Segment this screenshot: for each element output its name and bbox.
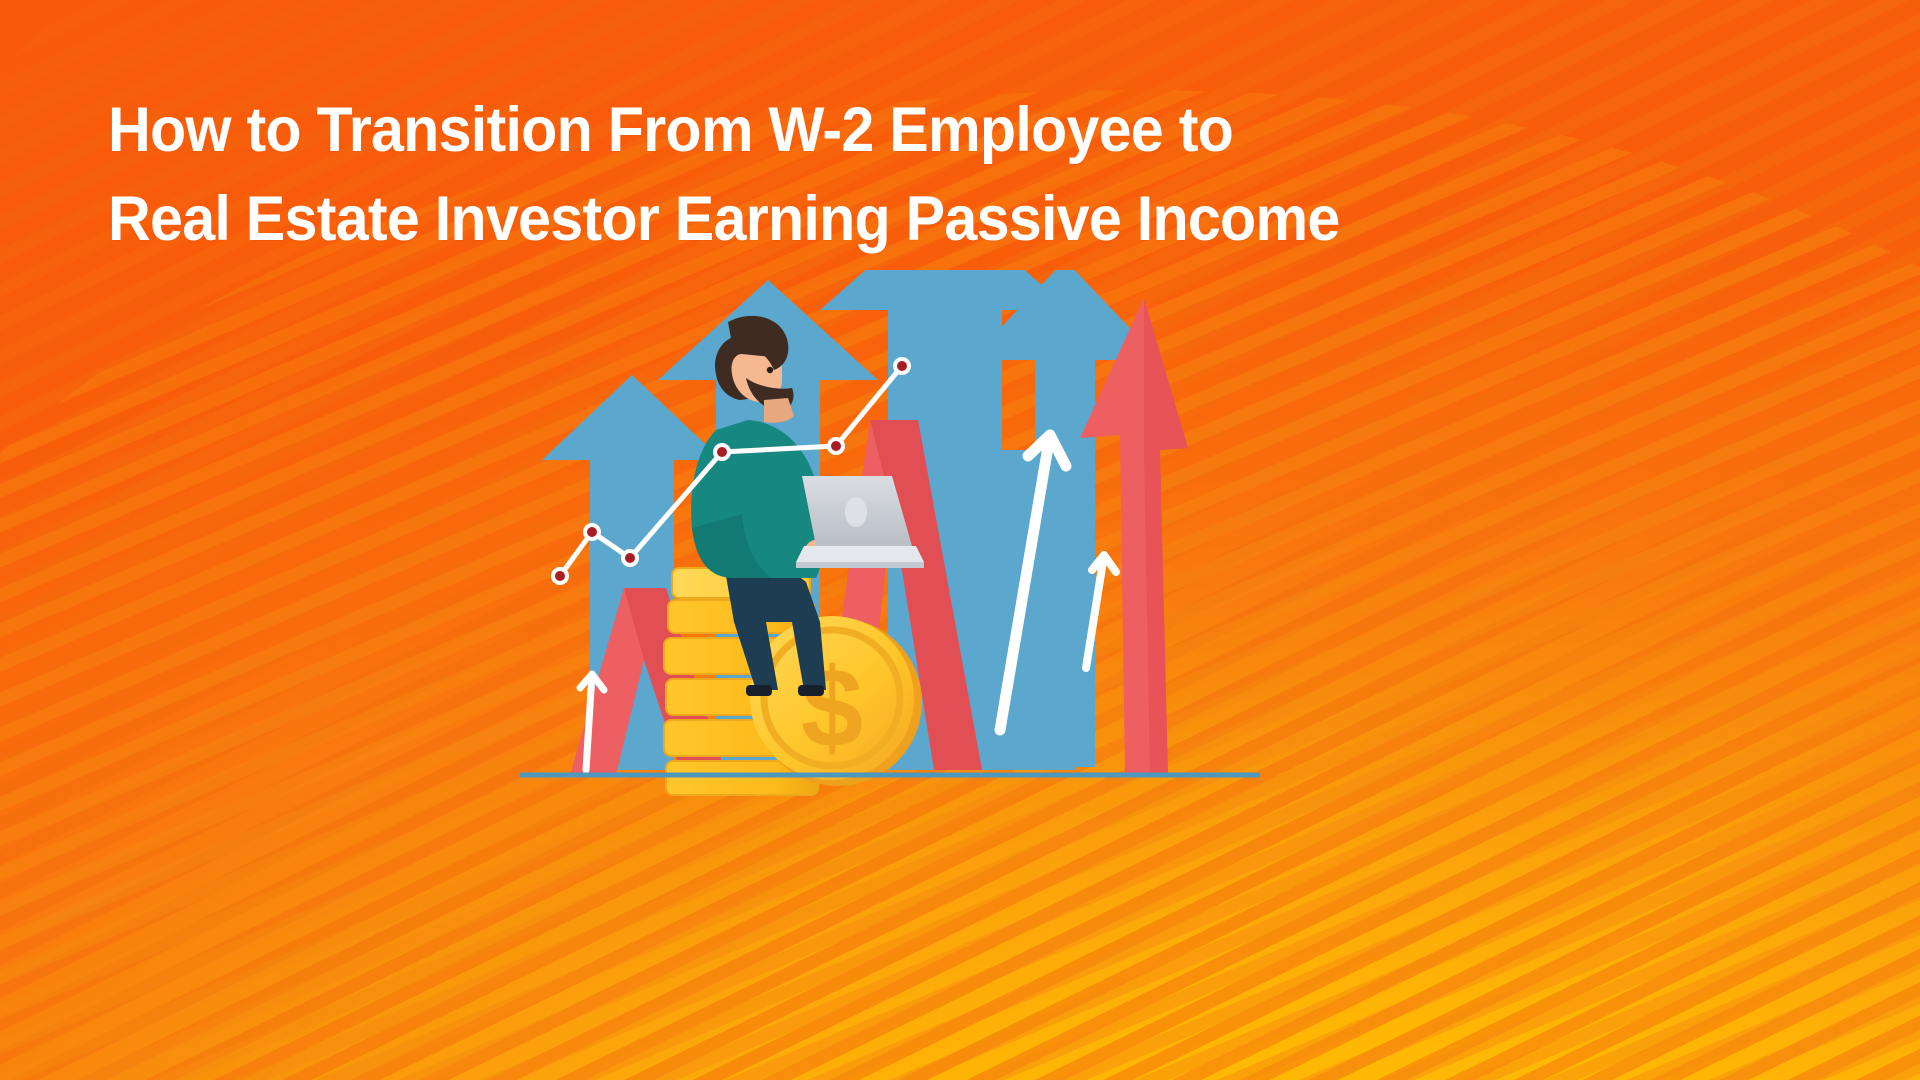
- page-title: How to Transition From W-2 Employee to R…: [108, 86, 1648, 264]
- red-arrow-far-right: [1080, 298, 1188, 775]
- chart-point-4: [715, 445, 729, 459]
- title-line-2: Real Estate Investor Earning Passive Inc…: [108, 175, 1556, 264]
- chart-point-2: [585, 525, 599, 539]
- hero-banner: How to Transition From W-2 Employee to R…: [0, 0, 1920, 1080]
- laptop-logo: [845, 497, 867, 527]
- eye: [767, 367, 773, 373]
- shoe-left: [746, 685, 772, 696]
- chart-point-5: [829, 439, 843, 453]
- title-line-1: How to Transition From W-2 Employee to: [108, 86, 1556, 175]
- laptop-keyboard: [796, 546, 924, 562]
- chart-point-3: [623, 551, 637, 565]
- chart-point-1: [553, 569, 567, 583]
- illustration-svg: $: [520, 270, 1400, 960]
- shoe-right: [798, 685, 824, 696]
- laptop-base-edge: [796, 562, 924, 568]
- hero-illustration: $: [520, 270, 1400, 960]
- chart-point-6: [895, 359, 909, 373]
